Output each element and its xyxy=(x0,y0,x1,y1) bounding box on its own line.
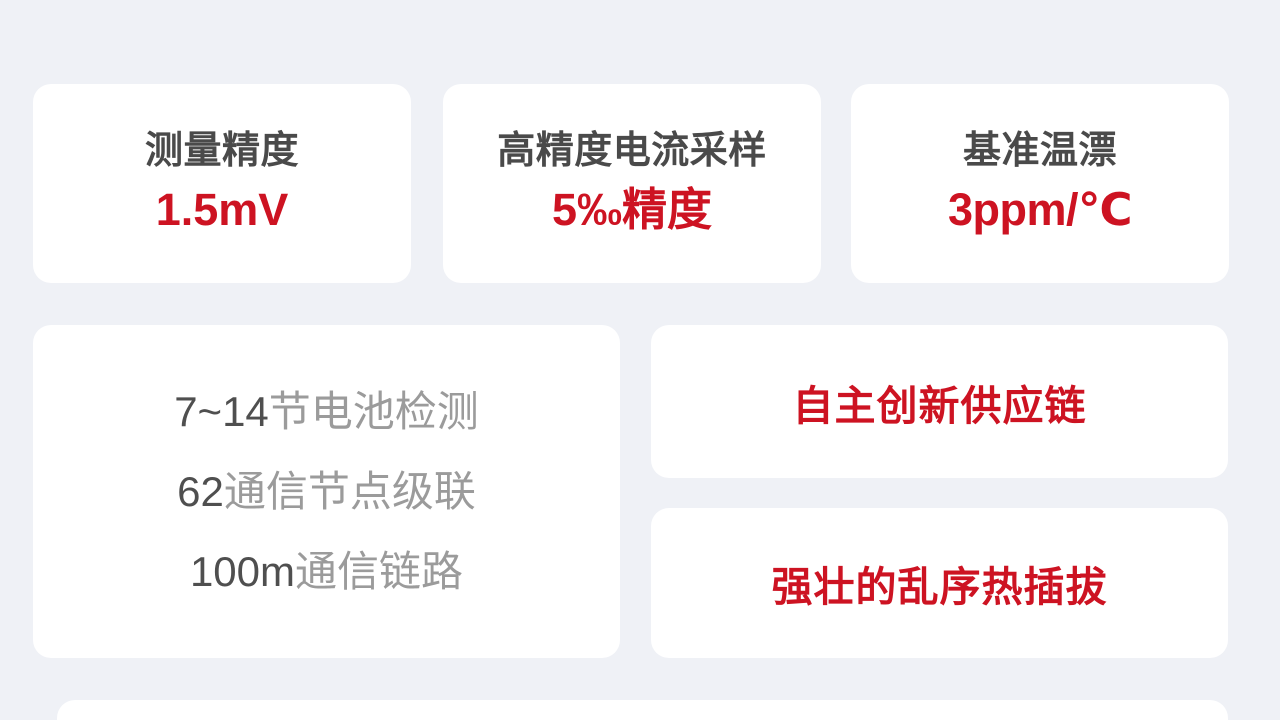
spec-line: 100m通信链路 xyxy=(190,532,463,612)
highlight-card-text: 强壮的乱序热插拔 xyxy=(772,553,1108,613)
spec-list-card: 7~14节电池检测 62通信节点级联 100m通信链路 xyxy=(33,325,620,658)
bottom-card-partial xyxy=(57,700,1228,720)
spec-line-number: 62 xyxy=(177,468,224,515)
spec-line: 62通信节点级联 xyxy=(177,452,476,532)
spec-line-number: 100m xyxy=(190,548,295,595)
stat-card-title: 高精度电流采样 xyxy=(497,126,767,177)
stat-card-value: 1.5mV xyxy=(156,180,289,241)
highlight-card-hot-swap: 强壮的乱序热插拔 xyxy=(651,508,1228,658)
feature-card-board: 测量精度 1.5mV 高精度电流采样 5‰精度 基准温漂 3ppm/℃ 7~14… xyxy=(0,0,1280,720)
highlight-card-text: 自主创新供应链 xyxy=(793,372,1087,432)
stat-card-current-sampling: 高精度电流采样 5‰精度 xyxy=(443,84,821,283)
spec-line-label: 通信链路 xyxy=(295,548,463,595)
stat-card-value: 3ppm/℃ xyxy=(948,180,1132,241)
highlight-card-supply-chain: 自主创新供应链 xyxy=(651,325,1228,478)
spec-line: 7~14节电池检测 xyxy=(174,372,479,452)
spec-line-label: 通信节点级联 xyxy=(224,468,476,515)
stat-card-title: 基准温漂 xyxy=(963,126,1117,177)
stat-card-measurement-accuracy: 测量精度 1.5mV xyxy=(33,84,411,283)
spec-line-label: 节电池检测 xyxy=(269,388,479,435)
spec-line-number: 7~14 xyxy=(174,388,269,435)
stat-card-reference-temperature-drift: 基准温漂 3ppm/℃ xyxy=(851,84,1229,283)
stat-card-value: 5‰精度 xyxy=(552,180,712,241)
stat-card-title: 测量精度 xyxy=(145,126,299,177)
